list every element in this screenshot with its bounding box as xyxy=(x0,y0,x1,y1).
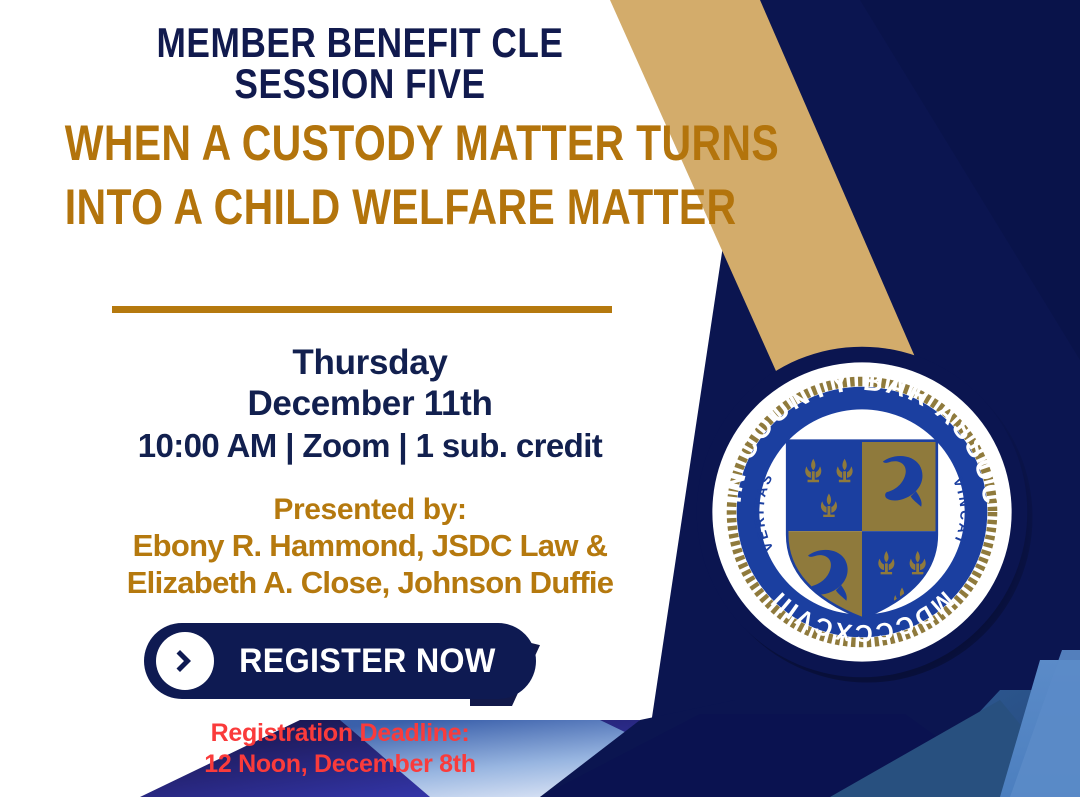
title-line-2: INTO A CHILD WELFARE MATTER xyxy=(65,182,655,232)
registration-deadline-block: Registration Deadline: 12 Noon, December… xyxy=(120,718,560,779)
event-meta: 10:00 AM | Zoom | 1 sub. credit xyxy=(0,426,740,466)
kicker-line-2: SESSION FIVE xyxy=(58,63,663,104)
register-now-button[interactable]: REGISTER NOW xyxy=(144,623,536,699)
presenters-label: Presented by: xyxy=(0,492,740,528)
register-now-label: REGISTER NOW xyxy=(222,642,528,681)
headline-block: MEMBER BENEFIT CLE SESSION FIVE WHEN A C… xyxy=(0,22,720,232)
event-day: Thursday xyxy=(0,342,740,383)
deadline-line-2: 12 Noon, December 8th xyxy=(120,749,560,780)
event-date: December 11th xyxy=(0,383,740,424)
chevron-right-icon xyxy=(156,632,214,690)
dauphin-county-bar-association-seal: DAUPHIN COUNTY BAR ASSOCIATION MDCCCXCVI… xyxy=(688,338,1036,686)
gold-divider xyxy=(112,306,612,313)
presenters-block: Presented by: Ebony R. Hammond, JSDC Law… xyxy=(0,492,740,601)
kicker-line-1: MEMBER BENEFIT CLE xyxy=(58,22,663,63)
presenter-name-1: Ebony R. Hammond, JSDC Law & xyxy=(0,528,740,565)
cle-flyer: DAUPHIN COUNTY BAR ASSOCIATION MDCCCXCVI… xyxy=(0,0,1080,797)
presenter-name-2: Elizabeth A. Close, Johnson Duffie xyxy=(0,565,740,602)
deadline-line-1: Registration Deadline: xyxy=(120,718,560,749)
event-details-block: Thursday December 11th 10:00 AM | Zoom |… xyxy=(0,342,740,465)
shield-quadrant-top-left xyxy=(787,441,862,531)
title-line-1: WHEN A CUSTODY MATTER TURNS xyxy=(65,118,655,168)
